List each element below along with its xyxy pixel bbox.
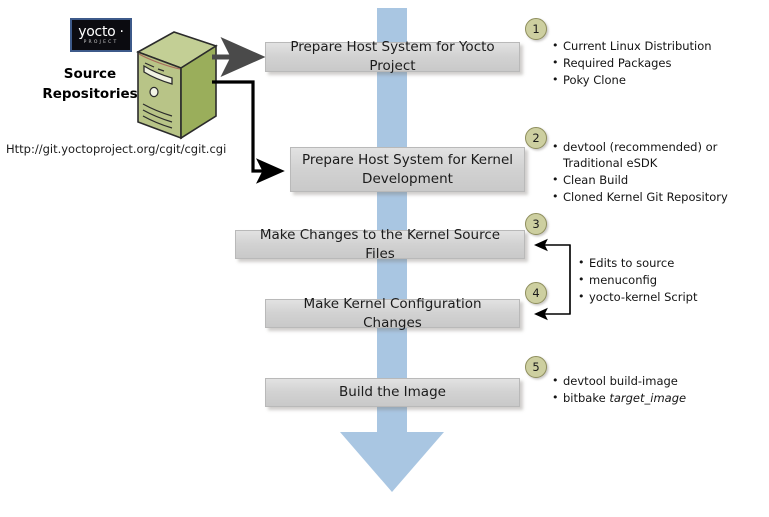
bullet-list-steps-3-4: Edits to source menuconfig yocto-kernel … xyxy=(578,255,758,306)
process-box-step3-label: Make Changes to the Kernel Source Files xyxy=(244,226,516,264)
list-item: Clean Build xyxy=(552,172,752,188)
process-box-step5-label: Build the Image xyxy=(339,383,446,402)
list-item: Edits to source xyxy=(578,255,758,271)
list-item: yocto-kernel Script xyxy=(578,289,758,305)
list-item: Poky Clone xyxy=(552,72,762,88)
list-item: Current Linux Distribution xyxy=(552,38,762,54)
bullet-list-step1: Current Linux Distribution Required Pack… xyxy=(552,38,762,89)
process-box-step1-label: Prepare Host System for Yocto Project xyxy=(274,38,511,76)
process-box-step2-label: Prepare Host System for Kernel Developme… xyxy=(302,151,513,189)
list-item-text: devtool build-image xyxy=(563,374,678,388)
process-box-step2-line2: Development xyxy=(362,171,453,187)
source-repositories-label: Source Repositories xyxy=(30,64,150,104)
step-badge-1: 1 xyxy=(525,18,547,40)
connector-bullets-to-step4 xyxy=(536,245,570,314)
process-box-step4-label: Make Kernel Configuration Changes xyxy=(274,295,511,333)
bullet-list-step5: devtool build-image bitbake target_image xyxy=(552,373,752,407)
process-box-step5[interactable]: Build the Image xyxy=(265,378,520,407)
list-item-emphasis: target_image xyxy=(609,391,686,405)
step-badge-3: 3 xyxy=(525,213,547,235)
process-box-step4[interactable]: Make Kernel Configuration Changes xyxy=(265,299,520,328)
process-box-step2[interactable]: Prepare Host System for Kernel Developme… xyxy=(290,147,525,192)
list-item: Required Packages xyxy=(552,55,762,71)
server-tower-icon xyxy=(134,30,220,140)
process-box-step1[interactable]: Prepare Host System for Yocto Project xyxy=(265,42,520,72)
connector-server-to-step2 xyxy=(212,82,280,171)
source-repository-url: Http://git.yoctoproject.org/cgit/cgit.cg… xyxy=(6,142,226,156)
diagram-canvas: yocto · PROJECT Source Repositories Http… xyxy=(0,0,769,517)
list-item: devtool (recommended) or Traditional eSD… xyxy=(552,139,728,171)
source-label-line1: Source xyxy=(30,64,150,84)
list-item-text: bitbake xyxy=(563,391,609,405)
list-item: Cloned Kernel Git Repository xyxy=(552,189,752,205)
list-item: bitbake target_image xyxy=(552,390,752,406)
logo-subtitle: PROJECT xyxy=(84,41,119,46)
source-label-line2: Repositories xyxy=(30,84,150,104)
step-badge-2: 2 xyxy=(525,127,547,149)
spine-arrow-head-icon xyxy=(340,432,444,492)
list-item: menuconfig xyxy=(578,272,758,288)
connector-bullets-to-step3 xyxy=(536,245,570,314)
step-badge-5: 5 xyxy=(525,356,547,378)
step-badge-4: 4 xyxy=(525,282,547,304)
bullet-list-step2: devtool (recommended) or Traditional eSD… xyxy=(552,139,752,206)
list-item: devtool build-image xyxy=(552,373,752,389)
logo-wordmark: yocto · xyxy=(78,25,123,39)
yocto-project-logo: yocto · PROJECT xyxy=(70,18,132,52)
process-box-step2-line1: Prepare Host System for Kernel xyxy=(302,152,513,168)
process-box-step3[interactable]: Make Changes to the Kernel Source Files xyxy=(235,230,525,259)
